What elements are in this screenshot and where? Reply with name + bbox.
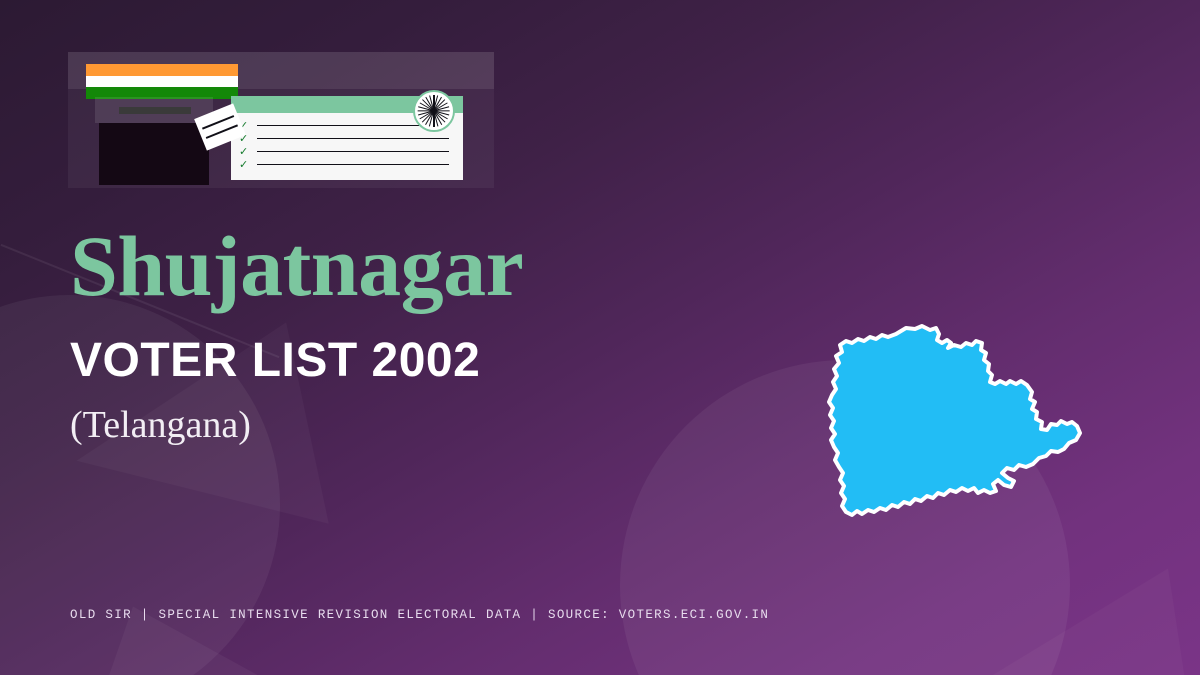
document-text-line [257, 138, 449, 140]
telangana-map-svg [818, 312, 1108, 587]
footer-source-line: OLD SIR | SPECIAL INTENSIVE REVISION ELE… [70, 608, 769, 622]
ashoka-chakra-icon [413, 90, 455, 132]
document-text-line [257, 164, 449, 166]
india-tricolor-flag-icon [86, 64, 238, 99]
slide-canvas: ✓ ✓ ✓ ✓ Shujatnagar VO [0, 0, 1200, 675]
document-text-line [257, 151, 449, 153]
list-item: ✓ [231, 145, 463, 158]
page-region: (Telangana) [70, 402, 251, 448]
telangana-state-map [818, 312, 1108, 587]
check-icon: ✓ [239, 159, 251, 170]
ballot-paper-line [206, 124, 238, 138]
list-item: ✓ [231, 132, 463, 145]
check-icon: ✓ [239, 146, 251, 157]
ballot-box-body [99, 123, 209, 185]
page-subtitle: VOTER LIST 2002 [70, 333, 480, 389]
ballot-box-slot [119, 107, 191, 114]
flag-band-white [86, 76, 238, 88]
telangana-outline-path [829, 326, 1080, 515]
document-text-line [257, 125, 429, 127]
ballot-box-icon [95, 97, 213, 185]
page-title: Shujatnagar [70, 218, 523, 314]
flag-band-saffron [86, 64, 238, 76]
election-illustration: ✓ ✓ ✓ ✓ [68, 52, 494, 188]
list-item: ✓ [231, 158, 463, 171]
